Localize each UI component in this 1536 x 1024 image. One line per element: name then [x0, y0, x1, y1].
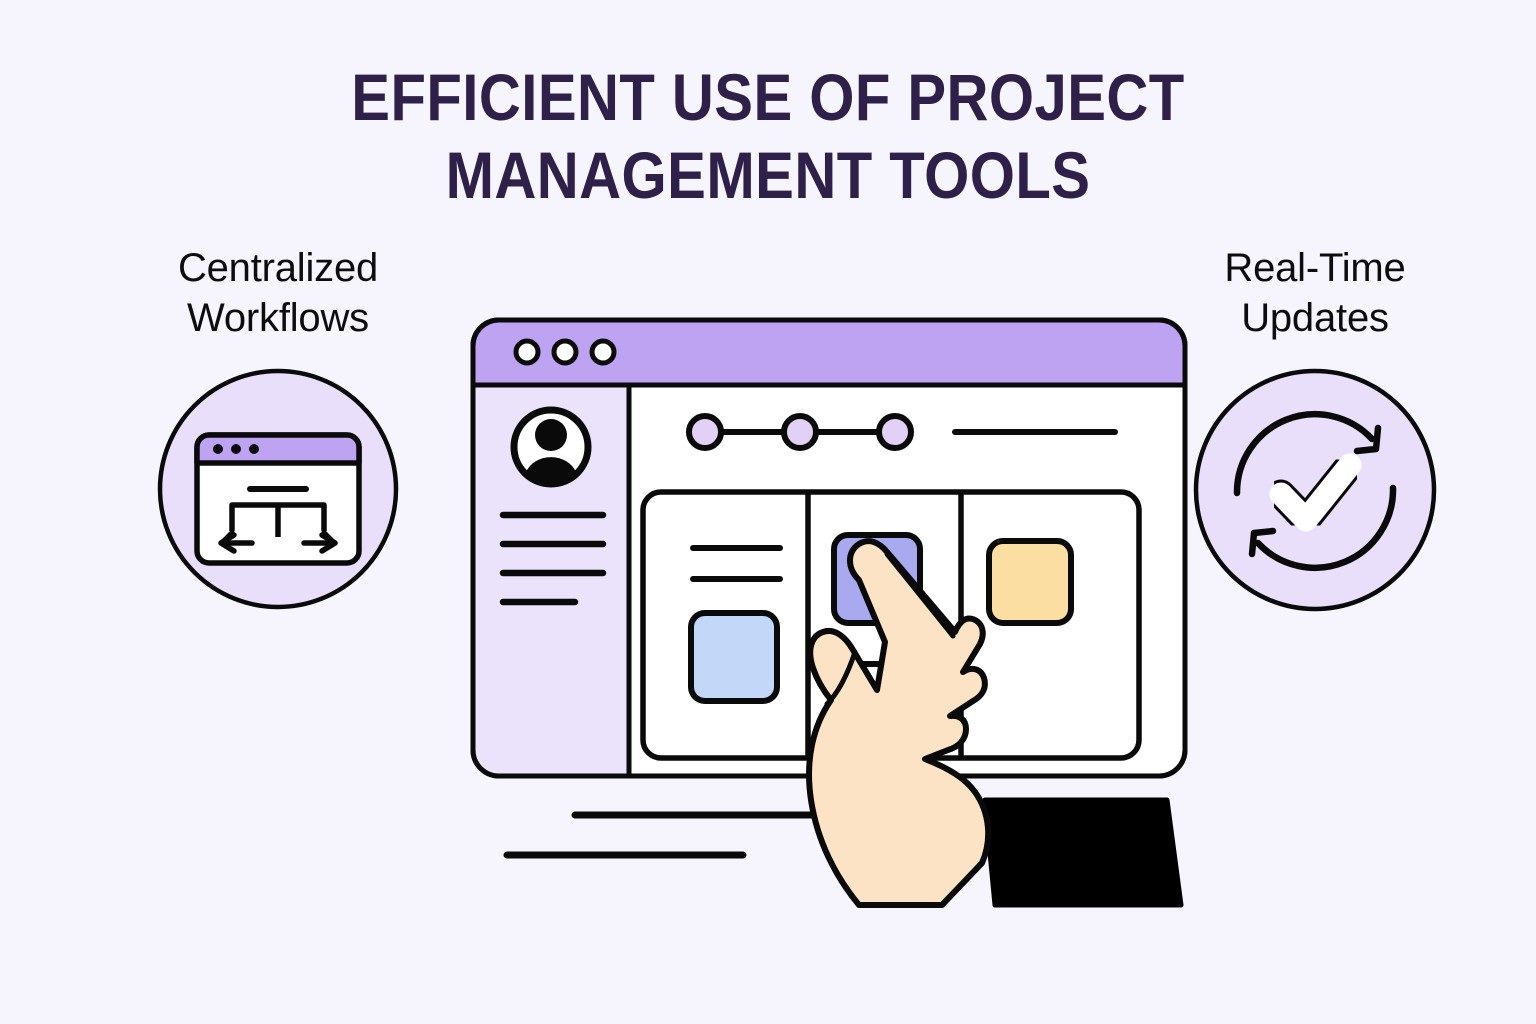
window-titlebar	[473, 320, 1185, 385]
progress-step-3	[879, 416, 911, 448]
dashboard-sidebar	[473, 320, 629, 776]
monitor-stand-lines	[507, 815, 815, 855]
feature-centralized-workflows: Centralized Workflows	[118, 243, 438, 613]
infographic-canvas: EFFICIENT USE OF PROJECT MANAGEMENT TOOL…	[0, 0, 1536, 1024]
page-title: EFFICIENT USE OF PROJECT MANAGEMENT TOOL…	[92, 58, 1444, 214]
workflow-browser-window	[197, 435, 359, 563]
window-dot-minimize	[554, 341, 576, 363]
kanban-column-3[interactable]	[989, 541, 1071, 623]
page-title-line-1: EFFICIENT USE OF PROJECT	[92, 58, 1444, 136]
refresh-check-icon	[1190, 365, 1440, 615]
feature-left-label: Centralized Workflows	[118, 243, 438, 343]
feature-left-label-line-1: Centralized	[118, 243, 438, 293]
user-avatar	[514, 410, 588, 484]
feature-left-label-line-2: Workflows	[118, 293, 438, 343]
hand-sleeve	[985, 800, 1181, 905]
window-dot-maximize	[592, 341, 614, 363]
workflow-browser-icon	[154, 365, 402, 613]
project-management-dashboard-illustration	[455, 280, 1215, 910]
progress-step-1	[689, 416, 721, 448]
progress-step-2	[784, 416, 816, 448]
window-dot-close	[516, 341, 538, 363]
page-title-line-2: MANAGEMENT TOOLS	[92, 136, 1444, 214]
task-card-blue[interactable]	[691, 613, 777, 701]
task-card-yellow[interactable]	[989, 541, 1071, 623]
